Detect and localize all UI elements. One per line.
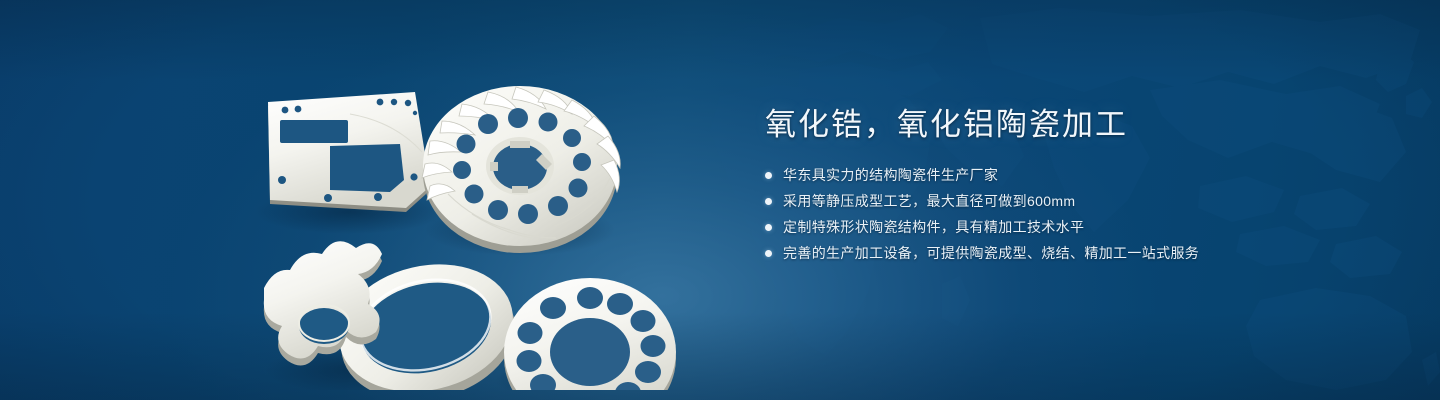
page-title: 氧化锆，氧化铝陶瓷加工 (765, 104, 1385, 146)
list-item-label: 完善的生产加工设备，可提供陶瓷成型、烧结、精加工一站式服务 (783, 242, 1199, 264)
list-item: 采用等静压成型工艺，最大直径可做到600mm (765, 190, 1385, 212)
bullet-dot-icon (765, 250, 772, 257)
list-item-label: 华东具实力的结构陶瓷件生产厂家 (783, 164, 998, 186)
list-item-label: 采用等静压成型工艺，最大直径可做到600mm (783, 190, 1075, 212)
bullet-dot-icon (765, 172, 772, 179)
ceramic-plate-part (268, 92, 426, 212)
list-item: 华东具实力的结构陶瓷件生产厂家 (765, 164, 1385, 186)
list-item: 定制特殊形状陶瓷结构件，具有精加工技术水平 (765, 216, 1385, 238)
bullet-dot-icon (765, 198, 772, 205)
list-item-label: 定制特殊形状陶瓷结构件，具有精加工技术水平 (783, 216, 1084, 238)
list-item: 完善的生产加工设备，可提供陶瓷成型、烧结、精加工一站式服务 (765, 242, 1385, 264)
feature-list: 华东具实力的结构陶瓷件生产厂家 采用等静压成型工艺，最大直径可做到600mm 定… (765, 164, 1385, 264)
banner-text-block: 氧化锆，氧化铝陶瓷加工 华东具实力的结构陶瓷件生产厂家 采用等静压成型工艺，最大… (765, 104, 1385, 268)
bullet-dot-icon (765, 224, 772, 231)
ceramic-products-image (230, 40, 730, 390)
hero-banner: 氧化锆，氧化铝陶瓷加工 华东具实力的结构陶瓷件生产厂家 采用等静压成型工艺，最大… (0, 0, 1440, 400)
ceramic-perforated-disc-part (504, 278, 676, 390)
